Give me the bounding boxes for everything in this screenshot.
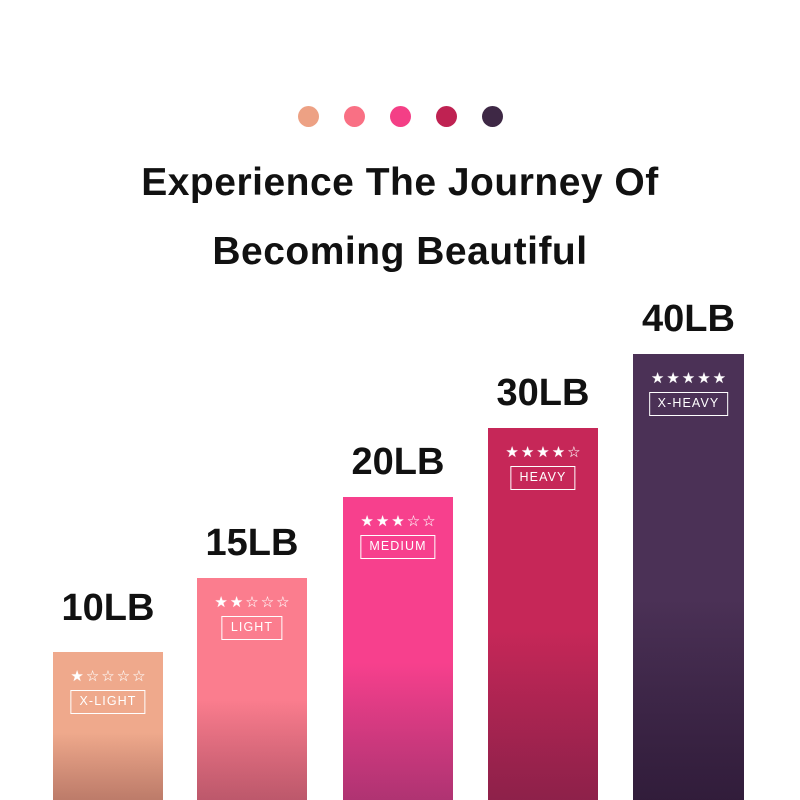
star-rating: ★★☆☆☆ xyxy=(214,595,289,610)
star-empty-icon: ☆ xyxy=(407,514,420,529)
level-badge-label: X-HEAVY xyxy=(649,392,729,416)
bar-10lb[interactable]: ★☆☆☆☆X-LIGHT xyxy=(53,652,163,800)
bar-bottom-shading xyxy=(488,629,598,800)
star-filled-icon: ★ xyxy=(536,445,549,460)
star-empty-icon: ☆ xyxy=(261,595,274,610)
star-filled-icon: ★ xyxy=(214,595,227,610)
bar-bottom-shading xyxy=(53,732,163,800)
star-filled-icon: ★ xyxy=(230,595,243,610)
bar-badge-heavy: ★★★★☆HEAVY xyxy=(505,445,580,490)
star-filled-icon: ★ xyxy=(666,371,679,386)
bar-30lb[interactable]: ★★★★☆HEAVY xyxy=(488,428,598,800)
bar-badge-light: ★★☆☆☆LIGHT xyxy=(214,595,289,640)
bar-group-x-light: ★☆☆☆☆X-LIGHT xyxy=(53,652,163,800)
star-filled-icon: ★ xyxy=(360,514,373,529)
bar-badge-medium: ★★★☆☆MEDIUM xyxy=(360,514,435,559)
bar-bottom-shading xyxy=(343,661,453,800)
bar-15lb[interactable]: ★★☆☆☆LIGHT xyxy=(197,578,307,800)
bar-20lb[interactable]: ★★★☆☆MEDIUM xyxy=(343,497,453,800)
level-badge-label: HEAVY xyxy=(511,466,576,490)
star-empty-icon: ☆ xyxy=(86,669,99,684)
star-filled-icon: ★ xyxy=(651,371,664,386)
star-filled-icon: ★ xyxy=(376,514,389,529)
weight-label-20lb: 20LB xyxy=(352,443,445,481)
star-filled-icon: ★ xyxy=(505,445,518,460)
bar-40lb[interactable]: ★★★★★X-HEAVY xyxy=(633,354,744,800)
star-filled-icon: ★ xyxy=(391,514,404,529)
star-filled-icon: ★ xyxy=(521,445,534,460)
level-badge-label: MEDIUM xyxy=(360,535,435,559)
star-rating: ★★★☆☆ xyxy=(360,514,435,529)
weight-label-40lb: 40LB xyxy=(642,300,735,338)
star-rating: ★☆☆☆☆ xyxy=(70,669,145,684)
bar-badge-x-light: ★☆☆☆☆X-LIGHT xyxy=(70,669,145,714)
star-filled-icon: ★ xyxy=(682,371,695,386)
star-empty-icon: ☆ xyxy=(276,595,289,610)
bar-badge-x-heavy: ★★★★★X-HEAVY xyxy=(649,371,729,416)
star-rating: ★★★★☆ xyxy=(505,445,580,460)
weight-label-15lb: 15LB xyxy=(206,524,299,562)
star-empty-icon: ☆ xyxy=(567,445,580,460)
star-filled-icon: ★ xyxy=(713,371,726,386)
bar-bottom-shading xyxy=(197,698,307,800)
star-empty-icon: ☆ xyxy=(117,669,130,684)
bar-group-medium: ★★★☆☆MEDIUM xyxy=(343,497,453,800)
star-empty-icon: ☆ xyxy=(422,514,435,529)
level-badge-label: X-LIGHT xyxy=(70,690,145,714)
star-filled-icon: ★ xyxy=(70,669,83,684)
star-empty-icon: ☆ xyxy=(132,669,145,684)
star-filled-icon: ★ xyxy=(552,445,565,460)
weight-label-10lb: 10LB xyxy=(62,589,155,627)
star-filled-icon: ★ xyxy=(697,371,710,386)
bar-group-heavy: ★★★★☆HEAVY xyxy=(488,428,598,800)
bar-group-light: ★★☆☆☆LIGHT xyxy=(197,578,307,800)
star-rating: ★★★★★ xyxy=(651,371,726,386)
infographic-canvas: Experience The Journey Of Becoming Beaut… xyxy=(0,0,800,800)
level-badge-label: LIGHT xyxy=(222,616,282,640)
star-empty-icon: ☆ xyxy=(245,595,258,610)
weight-label-30lb: 30LB xyxy=(497,374,590,412)
bar-bottom-shading xyxy=(633,595,744,800)
bar-group-x-heavy: ★★★★★X-HEAVY xyxy=(633,354,744,800)
resistance-band-bar-chart: ★☆☆☆☆X-LIGHT10LB★★☆☆☆LIGHT15LB★★★☆☆MEDIU… xyxy=(0,0,800,800)
star-empty-icon: ☆ xyxy=(101,669,114,684)
